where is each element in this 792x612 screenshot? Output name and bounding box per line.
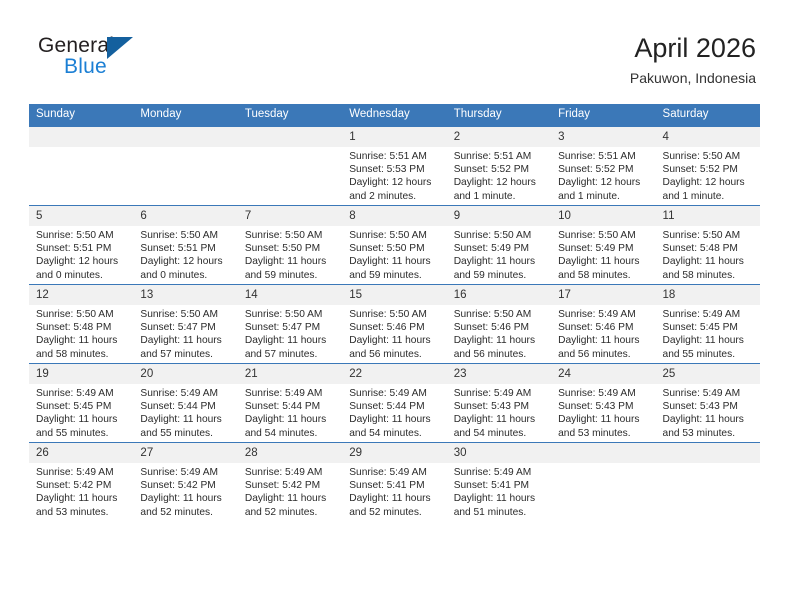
sunset-text: Sunset: 5:44 PM (245, 400, 336, 413)
sunrise-text: Sunrise: 5:49 AM (454, 387, 545, 400)
sunrise-text: Sunrise: 5:50 AM (349, 308, 440, 321)
daylight-text: Daylight: 11 hours and 56 minutes. (454, 334, 545, 360)
day-number: 2 (447, 127, 551, 147)
sunset-text: Sunset: 5:45 PM (663, 321, 754, 334)
day-number: 11 (656, 206, 760, 226)
calendar-week-row: 5Sunrise: 5:50 AMSunset: 5:51 PMDaylight… (29, 206, 760, 285)
day-details: Sunrise: 5:49 AMSunset: 5:43 PMDaylight:… (551, 384, 655, 440)
daylight-text: Daylight: 11 hours and 52 minutes. (140, 492, 231, 518)
daylight-text: Daylight: 11 hours and 58 minutes. (558, 255, 649, 281)
day-cell-inner: 22Sunrise: 5:49 AMSunset: 5:44 PMDayligh… (342, 364, 446, 442)
day-details: Sunrise: 5:51 AMSunset: 5:52 PMDaylight:… (551, 147, 655, 203)
daylight-text: Daylight: 12 hours and 2 minutes. (349, 176, 440, 202)
day-cell-inner: 28Sunrise: 5:49 AMSunset: 5:42 PMDayligh… (238, 443, 342, 521)
daylight-text: Daylight: 11 hours and 57 minutes. (140, 334, 231, 360)
sunset-text: Sunset: 5:51 PM (140, 242, 231, 255)
weekday-header-sunday: Sunday (29, 104, 133, 127)
day-cell-inner: 21Sunrise: 5:49 AMSunset: 5:44 PMDayligh… (238, 364, 342, 442)
day-cell-inner: 2Sunrise: 5:51 AMSunset: 5:52 PMDaylight… (447, 127, 551, 205)
sunrise-text: Sunrise: 5:50 AM (454, 308, 545, 321)
day-cell-inner: 23Sunrise: 5:49 AMSunset: 5:43 PMDayligh… (447, 364, 551, 442)
calendar-day-cell[interactable]: 11Sunrise: 5:50 AMSunset: 5:48 PMDayligh… (656, 206, 760, 285)
sunset-text: Sunset: 5:49 PM (454, 242, 545, 255)
day-number: 6 (133, 206, 237, 226)
daylight-text: Daylight: 11 hours and 53 minutes. (36, 492, 127, 518)
day-number: 22 (342, 364, 446, 384)
calendar-day-cell[interactable]: 17Sunrise: 5:49 AMSunset: 5:46 PMDayligh… (551, 285, 655, 364)
day-cell-inner: 25Sunrise: 5:49 AMSunset: 5:43 PMDayligh… (656, 364, 760, 442)
generalblue-logo[interactable]: General Blue (38, 34, 178, 84)
sunset-text: Sunset: 5:47 PM (140, 321, 231, 334)
day-details: Sunrise: 5:49 AMSunset: 5:42 PMDaylight:… (29, 463, 133, 519)
sunset-text: Sunset: 5:52 PM (454, 163, 545, 176)
day-cell-inner: 11Sunrise: 5:50 AMSunset: 5:48 PMDayligh… (656, 206, 760, 284)
day-details: Sunrise: 5:49 AMSunset: 5:46 PMDaylight:… (551, 305, 655, 361)
day-cell-inner: 29Sunrise: 5:49 AMSunset: 5:41 PMDayligh… (342, 443, 446, 521)
sunrise-text: Sunrise: 5:49 AM (245, 387, 336, 400)
sunset-text: Sunset: 5:52 PM (558, 163, 649, 176)
sunset-text: Sunset: 5:48 PM (663, 242, 754, 255)
calendar-day-cell[interactable]: 7Sunrise: 5:50 AMSunset: 5:50 PMDaylight… (238, 206, 342, 285)
daylight-text: Daylight: 11 hours and 55 minutes. (140, 413, 231, 439)
calendar-day-cell[interactable]: 8Sunrise: 5:50 AMSunset: 5:50 PMDaylight… (342, 206, 446, 285)
daylight-text: Daylight: 12 hours and 0 minutes. (36, 255, 127, 281)
sunrise-text: Sunrise: 5:49 AM (36, 466, 127, 479)
sunrise-text: Sunrise: 5:50 AM (558, 229, 649, 242)
logo-triangle-icon (107, 37, 133, 59)
day-details: Sunrise: 5:50 AMSunset: 5:52 PMDaylight:… (656, 147, 760, 203)
weekday-header-thursday: Thursday (447, 104, 551, 127)
daylight-text: Daylight: 11 hours and 53 minutes. (558, 413, 649, 439)
sunrise-text: Sunrise: 5:51 AM (558, 150, 649, 163)
sunrise-text: Sunrise: 5:50 AM (663, 229, 754, 242)
day-cell-inner: 24Sunrise: 5:49 AMSunset: 5:43 PMDayligh… (551, 364, 655, 442)
day-cell-inner: 5Sunrise: 5:50 AMSunset: 5:51 PMDaylight… (29, 206, 133, 284)
day-cell-inner (29, 127, 133, 205)
sunrise-text: Sunrise: 5:50 AM (140, 229, 231, 242)
day-cell-inner: 12Sunrise: 5:50 AMSunset: 5:48 PMDayligh… (29, 285, 133, 363)
day-number: 23 (447, 364, 551, 384)
sunset-text: Sunset: 5:50 PM (349, 242, 440, 255)
calendar-table: SundayMondayTuesdayWednesdayThursdayFrid… (29, 104, 760, 521)
sunset-text: Sunset: 5:42 PM (140, 479, 231, 492)
day-number: 9 (447, 206, 551, 226)
sunrise-text: Sunrise: 5:49 AM (36, 387, 127, 400)
day-number: 4 (656, 127, 760, 147)
sunrise-text: Sunrise: 5:49 AM (140, 387, 231, 400)
day-details: Sunrise: 5:49 AMSunset: 5:41 PMDaylight:… (447, 463, 551, 519)
calendar-page: General Blue April 2026 Pakuwon, Indones… (0, 0, 792, 612)
day-details: Sunrise: 5:49 AMSunset: 5:43 PMDaylight:… (656, 384, 760, 440)
calendar-week-row: 12Sunrise: 5:50 AMSunset: 5:48 PMDayligh… (29, 285, 760, 364)
day-details: Sunrise: 5:49 AMSunset: 5:45 PMDaylight:… (29, 384, 133, 440)
sunset-text: Sunset: 5:43 PM (663, 400, 754, 413)
sunrise-text: Sunrise: 5:50 AM (349, 229, 440, 242)
calendar-body: 1Sunrise: 5:51 AMSunset: 5:53 PMDaylight… (29, 127, 760, 522)
daylight-text: Daylight: 11 hours and 52 minutes. (245, 492, 336, 518)
day-number: 1 (342, 127, 446, 147)
daylight-text: Daylight: 11 hours and 59 minutes. (454, 255, 545, 281)
daylight-text: Daylight: 11 hours and 54 minutes. (245, 413, 336, 439)
calendar-day-cell[interactable]: 1Sunrise: 5:51 AMSunset: 5:53 PMDaylight… (342, 127, 446, 206)
day-cell-inner: 27Sunrise: 5:49 AMSunset: 5:42 PMDayligh… (133, 443, 237, 521)
calendar-day-cell[interactable]: 21Sunrise: 5:49 AMSunset: 5:44 PMDayligh… (238, 364, 342, 443)
sunrise-text: Sunrise: 5:49 AM (454, 466, 545, 479)
sunset-text: Sunset: 5:44 PM (140, 400, 231, 413)
day-cell-inner: 16Sunrise: 5:50 AMSunset: 5:46 PMDayligh… (447, 285, 551, 363)
day-cell-inner (551, 443, 655, 521)
day-cell-inner: 19Sunrise: 5:49 AMSunset: 5:45 PMDayligh… (29, 364, 133, 442)
day-number: 16 (447, 285, 551, 305)
calendar-day-cell[interactable]: 26Sunrise: 5:49 AMSunset: 5:42 PMDayligh… (29, 443, 133, 522)
day-number: 14 (238, 285, 342, 305)
day-number: 13 (133, 285, 237, 305)
day-number: 7 (238, 206, 342, 226)
sunset-text: Sunset: 5:45 PM (36, 400, 127, 413)
day-cell-inner: 20Sunrise: 5:49 AMSunset: 5:44 PMDayligh… (133, 364, 237, 442)
day-number: 21 (238, 364, 342, 384)
weekday-header-friday: Friday (551, 104, 655, 127)
page-header: General Blue April 2026 Pakuwon, Indones… (0, 0, 792, 100)
day-number: 12 (29, 285, 133, 305)
sunrise-text: Sunrise: 5:49 AM (245, 466, 336, 479)
day-number: 15 (342, 285, 446, 305)
day-number: 19 (29, 364, 133, 384)
day-cell-inner: 8Sunrise: 5:50 AMSunset: 5:50 PMDaylight… (342, 206, 446, 284)
sunset-text: Sunset: 5:41 PM (349, 479, 440, 492)
day-cell-inner: 26Sunrise: 5:49 AMSunset: 5:42 PMDayligh… (29, 443, 133, 521)
page-subtitle: Pakuwon, Indonesia (630, 70, 756, 87)
sunrise-text: Sunrise: 5:50 AM (36, 308, 127, 321)
day-cell-inner: 15Sunrise: 5:50 AMSunset: 5:46 PMDayligh… (342, 285, 446, 363)
calendar-day-cell[interactable]: 12Sunrise: 5:50 AMSunset: 5:48 PMDayligh… (29, 285, 133, 364)
sunrise-text: Sunrise: 5:50 AM (245, 308, 336, 321)
title-block: April 2026 Pakuwon, Indonesia (630, 32, 756, 87)
calendar-day-cell[interactable]: 15Sunrise: 5:50 AMSunset: 5:46 PMDayligh… (342, 285, 446, 364)
day-details: Sunrise: 5:49 AMSunset: 5:43 PMDaylight:… (447, 384, 551, 440)
day-cell-inner: 13Sunrise: 5:50 AMSunset: 5:47 PMDayligh… (133, 285, 237, 363)
weekday-header-saturday: Saturday (656, 104, 760, 127)
sunrise-text: Sunrise: 5:51 AM (454, 150, 545, 163)
day-number (656, 443, 760, 463)
daylight-text: Daylight: 12 hours and 1 minute. (454, 176, 545, 202)
day-number: 10 (551, 206, 655, 226)
calendar-header-row: SundayMondayTuesdayWednesdayThursdayFrid… (29, 104, 760, 127)
day-details: Sunrise: 5:50 AMSunset: 5:48 PMDaylight:… (656, 226, 760, 282)
daylight-text: Daylight: 11 hours and 56 minutes. (558, 334, 649, 360)
day-cell-inner: 9Sunrise: 5:50 AMSunset: 5:49 PMDaylight… (447, 206, 551, 284)
day-details: Sunrise: 5:50 AMSunset: 5:50 PMDaylight:… (238, 226, 342, 282)
calendar-day-cell[interactable]: 30Sunrise: 5:49 AMSunset: 5:41 PMDayligh… (447, 443, 551, 522)
sunset-text: Sunset: 5:44 PM (349, 400, 440, 413)
day-details: Sunrise: 5:50 AMSunset: 5:49 PMDaylight:… (447, 226, 551, 282)
sunset-text: Sunset: 5:42 PM (245, 479, 336, 492)
day-cell-inner: 4Sunrise: 5:50 AMSunset: 5:52 PMDaylight… (656, 127, 760, 205)
calendar-week-row: 1Sunrise: 5:51 AMSunset: 5:53 PMDaylight… (29, 127, 760, 206)
daylight-text: Daylight: 11 hours and 56 minutes. (349, 334, 440, 360)
day-cell-inner: 30Sunrise: 5:49 AMSunset: 5:41 PMDayligh… (447, 443, 551, 521)
day-details: Sunrise: 5:49 AMSunset: 5:42 PMDaylight:… (238, 463, 342, 519)
daylight-text: Daylight: 11 hours and 57 minutes. (245, 334, 336, 360)
daylight-text: Daylight: 11 hours and 55 minutes. (36, 413, 127, 439)
sunset-text: Sunset: 5:49 PM (558, 242, 649, 255)
day-number: 20 (133, 364, 237, 384)
sunrise-text: Sunrise: 5:50 AM (36, 229, 127, 242)
day-number (133, 127, 237, 147)
calendar-day-cell[interactable]: 4Sunrise: 5:50 AMSunset: 5:52 PMDaylight… (656, 127, 760, 206)
sunset-text: Sunset: 5:46 PM (349, 321, 440, 334)
calendar-day-cell[interactable]: 10Sunrise: 5:50 AMSunset: 5:49 PMDayligh… (551, 206, 655, 285)
calendar-week-row: 26Sunrise: 5:49 AMSunset: 5:42 PMDayligh… (29, 443, 760, 522)
day-details: Sunrise: 5:50 AMSunset: 5:47 PMDaylight:… (133, 305, 237, 361)
day-cell-inner: 14Sunrise: 5:50 AMSunset: 5:47 PMDayligh… (238, 285, 342, 363)
sunrise-text: Sunrise: 5:49 AM (663, 308, 754, 321)
sunrise-text: Sunrise: 5:49 AM (349, 466, 440, 479)
day-cell-inner: 18Sunrise: 5:49 AMSunset: 5:45 PMDayligh… (656, 285, 760, 363)
sunrise-text: Sunrise: 5:50 AM (454, 229, 545, 242)
day-number: 5 (29, 206, 133, 226)
daylight-text: Daylight: 12 hours and 0 minutes. (140, 255, 231, 281)
day-cell-inner: 6Sunrise: 5:50 AMSunset: 5:51 PMDaylight… (133, 206, 237, 284)
calendar-day-cell-empty (238, 127, 342, 206)
day-cell-inner: 7Sunrise: 5:50 AMSunset: 5:50 PMDaylight… (238, 206, 342, 284)
daylight-text: Daylight: 11 hours and 58 minutes. (663, 255, 754, 281)
day-details: Sunrise: 5:50 AMSunset: 5:51 PMDaylight:… (133, 226, 237, 282)
day-details: Sunrise: 5:50 AMSunset: 5:51 PMDaylight:… (29, 226, 133, 282)
calendar-day-cell[interactable]: 13Sunrise: 5:50 AMSunset: 5:47 PMDayligh… (133, 285, 237, 364)
daylight-text: Daylight: 12 hours and 1 minute. (663, 176, 754, 202)
calendar-day-cell[interactable]: 19Sunrise: 5:49 AMSunset: 5:45 PMDayligh… (29, 364, 133, 443)
day-number: 3 (551, 127, 655, 147)
calendar-day-cell[interactable]: 2Sunrise: 5:51 AMSunset: 5:52 PMDaylight… (447, 127, 551, 206)
daylight-text: Daylight: 12 hours and 1 minute. (558, 176, 649, 202)
day-cell-inner (238, 127, 342, 205)
daylight-text: Daylight: 11 hours and 59 minutes. (245, 255, 336, 281)
day-number (551, 443, 655, 463)
day-details: Sunrise: 5:49 AMSunset: 5:41 PMDaylight:… (342, 463, 446, 519)
day-details: Sunrise: 5:50 AMSunset: 5:46 PMDaylight:… (342, 305, 446, 361)
day-details: Sunrise: 5:49 AMSunset: 5:42 PMDaylight:… (133, 463, 237, 519)
calendar-day-cell-empty (29, 127, 133, 206)
day-number: 28 (238, 443, 342, 463)
calendar-day-cell[interactable]: 16Sunrise: 5:50 AMSunset: 5:46 PMDayligh… (447, 285, 551, 364)
daylight-text: Daylight: 11 hours and 58 minutes. (36, 334, 127, 360)
sunrise-text: Sunrise: 5:50 AM (663, 150, 754, 163)
calendar-day-cell[interactable]: 9Sunrise: 5:50 AMSunset: 5:49 PMDaylight… (447, 206, 551, 285)
sunrise-text: Sunrise: 5:50 AM (140, 308, 231, 321)
sunset-text: Sunset: 5:41 PM (454, 479, 545, 492)
day-details: Sunrise: 5:50 AMSunset: 5:48 PMDaylight:… (29, 305, 133, 361)
calendar-day-cell[interactable]: 18Sunrise: 5:49 AMSunset: 5:45 PMDayligh… (656, 285, 760, 364)
sunrise-text: Sunrise: 5:50 AM (245, 229, 336, 242)
daylight-text: Daylight: 11 hours and 55 minutes. (663, 334, 754, 360)
calendar-day-cell[interactable]: 25Sunrise: 5:49 AMSunset: 5:43 PMDayligh… (656, 364, 760, 443)
daylight-text: Daylight: 11 hours and 53 minutes. (663, 413, 754, 439)
calendar-day-cell[interactable]: 24Sunrise: 5:49 AMSunset: 5:43 PMDayligh… (551, 364, 655, 443)
sunset-text: Sunset: 5:46 PM (558, 321, 649, 334)
weekday-header-tuesday: Tuesday (238, 104, 342, 127)
day-number: 18 (656, 285, 760, 305)
day-number: 29 (342, 443, 446, 463)
daylight-text: Daylight: 11 hours and 54 minutes. (349, 413, 440, 439)
sunset-text: Sunset: 5:47 PM (245, 321, 336, 334)
day-details: Sunrise: 5:49 AMSunset: 5:45 PMDaylight:… (656, 305, 760, 361)
day-details: Sunrise: 5:50 AMSunset: 5:50 PMDaylight:… (342, 226, 446, 282)
day-details: Sunrise: 5:49 AMSunset: 5:44 PMDaylight:… (342, 384, 446, 440)
day-number: 26 (29, 443, 133, 463)
calendar-day-cell[interactable]: 22Sunrise: 5:49 AMSunset: 5:44 PMDayligh… (342, 364, 446, 443)
day-details: Sunrise: 5:49 AMSunset: 5:44 PMDaylight:… (133, 384, 237, 440)
day-cell-inner: 3Sunrise: 5:51 AMSunset: 5:52 PMDaylight… (551, 127, 655, 205)
day-cell-inner (656, 443, 760, 521)
daylight-text: Daylight: 11 hours and 52 minutes. (349, 492, 440, 518)
sunset-text: Sunset: 5:42 PM (36, 479, 127, 492)
day-number: 24 (551, 364, 655, 384)
calendar-day-cell[interactable]: 29Sunrise: 5:49 AMSunset: 5:41 PMDayligh… (342, 443, 446, 522)
day-number (238, 127, 342, 147)
day-number: 8 (342, 206, 446, 226)
calendar-day-cell-empty (656, 443, 760, 522)
calendar-day-cell[interactable]: 28Sunrise: 5:49 AMSunset: 5:42 PMDayligh… (238, 443, 342, 522)
daylight-text: Daylight: 11 hours and 54 minutes. (454, 413, 545, 439)
day-cell-inner (133, 127, 237, 205)
calendar-week-row: 19Sunrise: 5:49 AMSunset: 5:45 PMDayligh… (29, 364, 760, 443)
sunrise-text: Sunrise: 5:49 AM (140, 466, 231, 479)
sunrise-text: Sunrise: 5:49 AM (663, 387, 754, 400)
calendar-day-cell[interactable]: 14Sunrise: 5:50 AMSunset: 5:47 PMDayligh… (238, 285, 342, 364)
day-number: 17 (551, 285, 655, 305)
weekday-header-wednesday: Wednesday (342, 104, 446, 127)
sunset-text: Sunset: 5:51 PM (36, 242, 127, 255)
daylight-text: Daylight: 11 hours and 59 minutes. (349, 255, 440, 281)
day-details: Sunrise: 5:50 AMSunset: 5:49 PMDaylight:… (551, 226, 655, 282)
day-details: Sunrise: 5:50 AMSunset: 5:47 PMDaylight:… (238, 305, 342, 361)
logo-text-blue: Blue (64, 55, 107, 79)
sunrise-text: Sunrise: 5:49 AM (349, 387, 440, 400)
day-cell-inner: 10Sunrise: 5:50 AMSunset: 5:49 PMDayligh… (551, 206, 655, 284)
sunrise-text: Sunrise: 5:49 AM (558, 387, 649, 400)
calendar-day-cell-empty (133, 127, 237, 206)
sunset-text: Sunset: 5:53 PM (349, 163, 440, 176)
sunset-text: Sunset: 5:50 PM (245, 242, 336, 255)
calendar-day-cell[interactable]: 5Sunrise: 5:50 AMSunset: 5:51 PMDaylight… (29, 206, 133, 285)
day-details: Sunrise: 5:50 AMSunset: 5:46 PMDaylight:… (447, 305, 551, 361)
calendar-day-cell-empty (551, 443, 655, 522)
calendar-day-cell[interactable]: 27Sunrise: 5:49 AMSunset: 5:42 PMDayligh… (133, 443, 237, 522)
day-details: Sunrise: 5:51 AMSunset: 5:52 PMDaylight:… (447, 147, 551, 203)
sunset-text: Sunset: 5:43 PM (558, 400, 649, 413)
day-cell-inner: 17Sunrise: 5:49 AMSunset: 5:46 PMDayligh… (551, 285, 655, 363)
daylight-text: Daylight: 11 hours and 51 minutes. (454, 492, 545, 518)
calendar-day-cell[interactable]: 3Sunrise: 5:51 AMSunset: 5:52 PMDaylight… (551, 127, 655, 206)
calendar-day-cell[interactable]: 23Sunrise: 5:49 AMSunset: 5:43 PMDayligh… (447, 364, 551, 443)
calendar-day-cell[interactable]: 6Sunrise: 5:50 AMSunset: 5:51 PMDaylight… (133, 206, 237, 285)
sunset-text: Sunset: 5:46 PM (454, 321, 545, 334)
sunrise-text: Sunrise: 5:51 AM (349, 150, 440, 163)
day-number: 30 (447, 443, 551, 463)
day-number: 27 (133, 443, 237, 463)
weekday-header-monday: Monday (133, 104, 237, 127)
day-cell-inner: 1Sunrise: 5:51 AMSunset: 5:53 PMDaylight… (342, 127, 446, 205)
calendar-day-cell[interactable]: 20Sunrise: 5:49 AMSunset: 5:44 PMDayligh… (133, 364, 237, 443)
day-number: 25 (656, 364, 760, 384)
sunset-text: Sunset: 5:52 PM (663, 163, 754, 176)
sunset-text: Sunset: 5:43 PM (454, 400, 545, 413)
sunrise-text: Sunrise: 5:49 AM (558, 308, 649, 321)
day-number (29, 127, 133, 147)
sunset-text: Sunset: 5:48 PM (36, 321, 127, 334)
page-title: April 2026 (630, 32, 756, 64)
day-details: Sunrise: 5:49 AMSunset: 5:44 PMDaylight:… (238, 384, 342, 440)
day-details: Sunrise: 5:51 AMSunset: 5:53 PMDaylight:… (342, 147, 446, 203)
